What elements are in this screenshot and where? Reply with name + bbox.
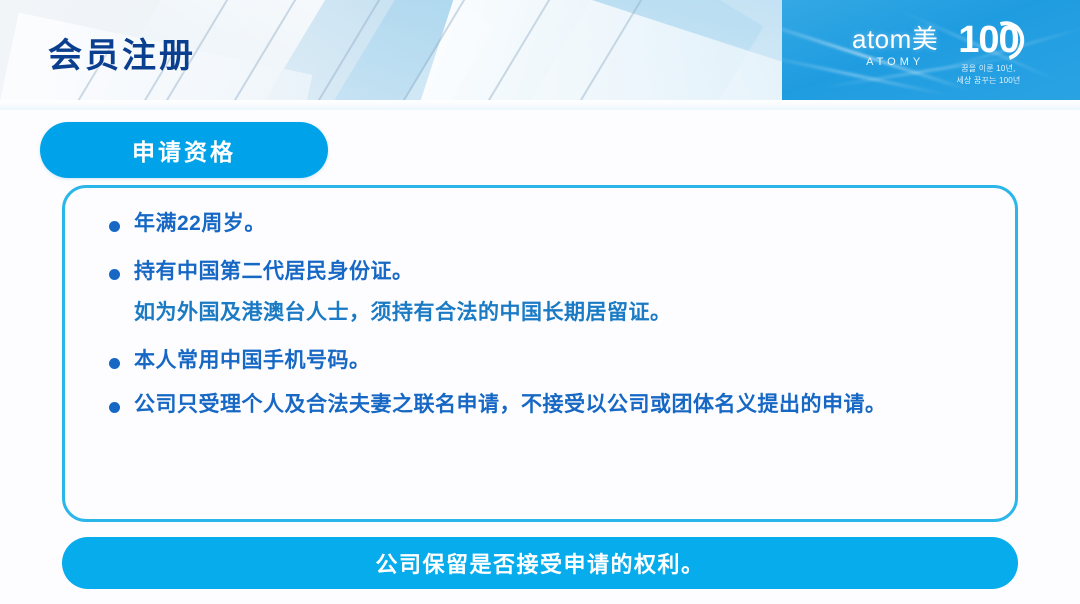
requirement-subtext: 如为外国及港澳台人士，须持有合法的中国长期居留证。 — [134, 299, 989, 327]
list-item: 公司只受理个人及合法夫妻之联名申请，不接受以公司或团体名义提出的申请。 — [91, 391, 989, 419]
requirement-text: 持有中国第二代居民身份证。 — [134, 260, 414, 283]
anniversary-100-logo: 100 꿈을 이룬 10년, 세상 꿈꾸는 100년 — [956, 20, 1020, 86]
requirement-text: 本人常用中国手机号码。 — [134, 347, 989, 375]
glass-mullion-line — [461, 0, 591, 100]
glass-mullion-line — [291, 0, 421, 100]
glass-mullion-line — [552, 0, 677, 100]
requirement-text: 年满22周岁。 — [134, 210, 989, 238]
footer-notice-label: 公司保留是否接受申请的权利。 — [375, 547, 704, 579]
list-item: 年满22周岁。 — [91, 210, 989, 238]
bullet-dot-icon — [109, 402, 120, 413]
anniversary-tagline-line1: 꿈을 이룬 10년, — [956, 63, 1020, 75]
atomy-logo: atom美 ATOMY — [852, 20, 938, 68]
page-title: 会员注册 — [48, 28, 196, 77]
section-heading-pill: 申请资格 — [40, 122, 328, 178]
atomy-wordmark: atom美 — [852, 26, 938, 52]
header-sky-panel: atom美 ATOMY 100 꿈을 이룬 10년, 세상 꿈꾸는 100년 — [782, 0, 1080, 100]
anniversary-tagline-line2: 세상 꿈꾸는 100년 — [956, 75, 1020, 87]
requirements-list: 年满22周岁。 持有中国第二代居民身份证。 如为外国及港澳台人士，须持有合法的中… — [91, 210, 989, 419]
glass-mullion-line — [206, 0, 331, 100]
requirement-text-group: 持有中国第二代居民身份证。 如为外国及港澳台人士，须持有合法的中国长期居留证。 — [134, 258, 989, 327]
page-header: atom美 ATOMY 100 꿈을 이룬 10년, 세상 꿈꾸는 100년 会… — [0, 0, 1080, 100]
list-item: 本人常用中国手机号码。 — [91, 347, 989, 375]
anniversary-mark: 100 — [956, 20, 1020, 60]
bullet-dot-icon — [109, 221, 120, 232]
bullet-dot-icon — [109, 269, 120, 280]
list-item: 持有中国第二代居民身份证。 如为外国及港澳台人士，须持有合法的中国长期居留证。 — [91, 258, 989, 327]
section-heading-label: 申请资格 — [132, 133, 236, 167]
requirement-text: 公司只受理个人及合法夫妻之联名申请，不接受以公司或团体名义提出的申请。 — [134, 391, 989, 419]
anniversary-tagline: 꿈을 이룬 10년, 세상 꿈꾸는 100년 — [956, 63, 1020, 86]
slide-root: atom美 ATOMY 100 꿈을 이룬 10년, 세상 꿈꾸는 100년 会… — [0, 0, 1080, 604]
glass-facet — [326, 0, 763, 100]
glass-mullion-line — [376, 0, 506, 100]
footer-notice-bar: 公司保留是否接受申请的权利。 — [62, 537, 1018, 589]
header-divider — [0, 100, 1080, 110]
brand-logo-group: atom美 ATOMY 100 꿈을 이룬 10년, 세상 꿈꾸는 100년 — [852, 20, 1020, 86]
requirements-panel: 年满22周岁。 持有中国第二代居民身份证。 如为外国及港澳台人士，须持有合法的中… — [62, 185, 1018, 522]
atomy-romanized-label: ATOMY — [852, 56, 938, 68]
bullet-dot-icon — [109, 358, 120, 369]
